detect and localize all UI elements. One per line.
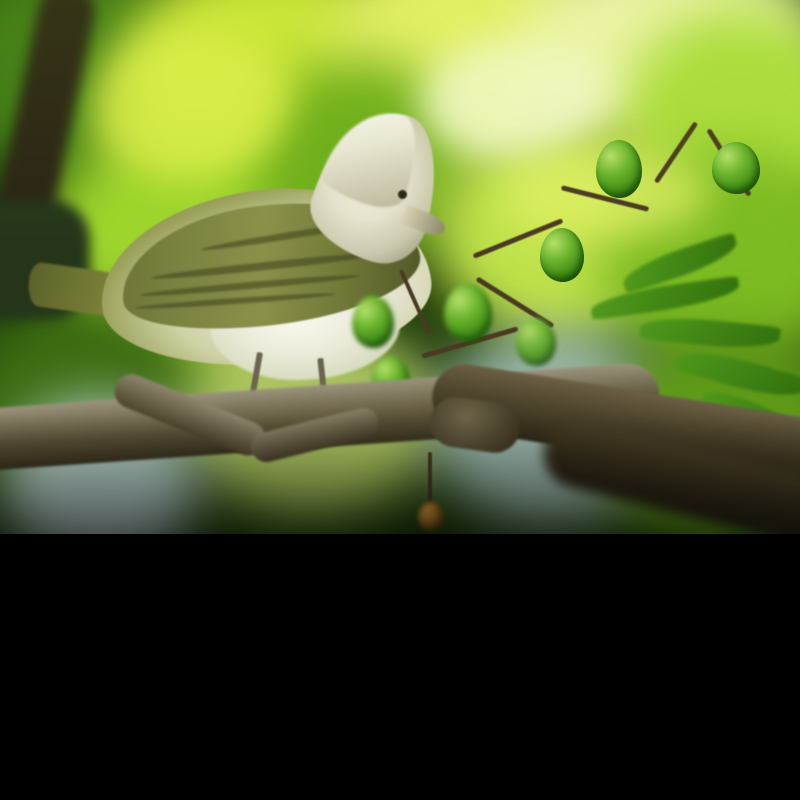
berry [596,140,642,198]
berry [352,296,394,348]
berry [516,318,556,366]
berry [540,228,584,282]
berry [444,284,492,342]
berry [712,142,760,194]
bird-photograph [0,0,800,534]
bird-photo-card: Chiví común Red-eyed Vireo Vireo olivace… [0,0,800,800]
dried-berry [418,502,444,532]
bird-eye [398,190,407,199]
photo-content [0,0,800,534]
info-panel: Chiví común Red-eyed Vireo Vireo olivace… [0,534,800,800]
